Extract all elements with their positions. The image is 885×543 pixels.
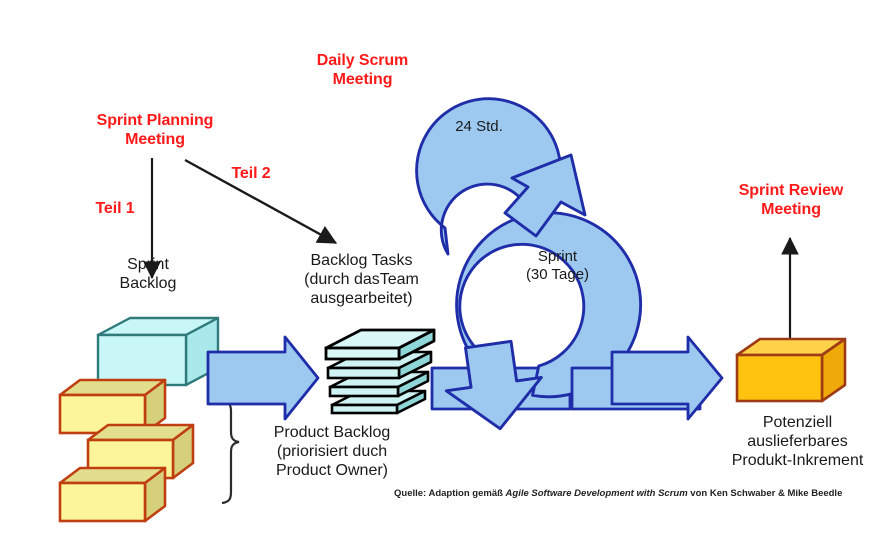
sprint-cycle-duration-label: Sprint (30 Tage): [495, 248, 620, 283]
backlog-tasks-label: Backlog Tasks (durch dasTeam ausgearbeit…: [269, 252, 454, 309]
source-work-title: Agile Software Development with Scrum: [506, 488, 688, 499]
sprint-backlog-label: Sprint Backlog: [93, 256, 203, 294]
source-prefix: Quelle: Adaption gemäß: [394, 488, 506, 499]
teil-2-label: Teil 2: [222, 165, 280, 184]
product-backlog-label: Product Backlog (priorisiert duch Produc…: [237, 424, 427, 481]
scrum-process-diagram: Sprint Planning Meeting Daily Scrum Meet…: [0, 0, 885, 543]
increment-cube-icon: [737, 339, 845, 401]
flow-arrow-left-icon: [208, 337, 318, 419]
product-increment-label: Potenziell auslieferbares Produkt-Inkrem…: [700, 414, 885, 471]
sprint-backlog-cube-icon: [98, 318, 218, 385]
product-backlog-cube-3-icon: [60, 468, 165, 521]
source-suffix: von Ken Schwaber & Mike Beedle: [688, 488, 843, 499]
teil-1-label: Teil 1: [86, 200, 144, 219]
source-citation: Quelle: Adaption gemäß Agile Software De…: [394, 488, 842, 499]
daily-cycle-duration-label: 24 Std.: [424, 118, 534, 136]
sprint-review-meeting-label: Sprint Review Meeting: [716, 182, 866, 220]
daily-scrum-meeting-label: Daily Scrum Meeting: [285, 52, 440, 90]
paper-stack-icon: [326, 330, 434, 413]
sprint-planning-meeting-label: Sprint Planning Meeting: [80, 112, 230, 150]
